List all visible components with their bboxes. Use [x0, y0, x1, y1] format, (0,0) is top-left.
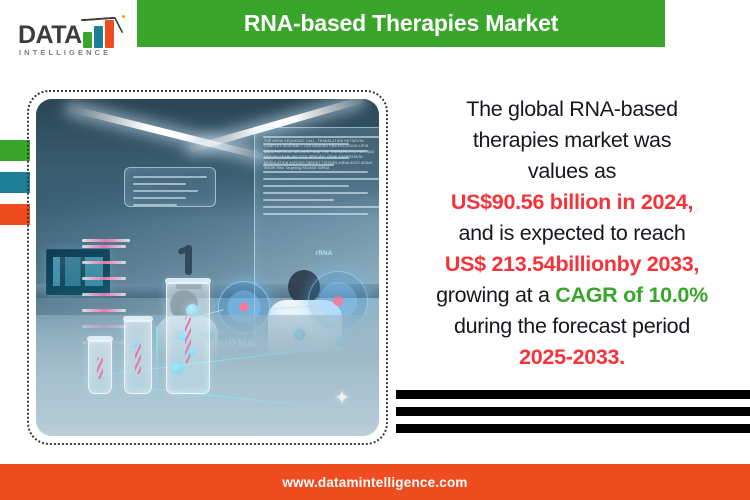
- stripe-1: [396, 390, 750, 399]
- stat-line-4: and is expected to reach: [458, 221, 685, 245]
- rna-strand: [185, 316, 191, 364]
- footer-website[interactable]: www.datamintelligence.com: [282, 475, 467, 490]
- holo-lines: [133, 176, 207, 211]
- lab-illustration: THE mRNA SEQUENCE CALL, TRANSLATION INIT…: [36, 99, 379, 436]
- decorative-stripes: [396, 390, 750, 441]
- header-banner: RNA-based Therapies Market: [137, 0, 665, 47]
- logo-subtitle: INTELLIGENCE: [19, 48, 111, 57]
- label-rrna: rRNA: [316, 251, 332, 257]
- stat-forecast-period: 2025-2033.: [519, 345, 625, 369]
- brand-logo: DATA INTELLIGENCE: [18, 12, 122, 62]
- stripe-2: [396, 407, 750, 416]
- accent-swatch-teal: [0, 172, 30, 193]
- image-frame: THE mRNA SEQUENCE CALL, TRANSLATION INIT…: [27, 90, 388, 445]
- stat-line-1: The global RNA-based: [466, 97, 678, 121]
- dna-rail: [82, 239, 130, 242]
- holo-panel-small-1: [124, 167, 216, 207]
- stat-line-3: values as: [528, 159, 616, 183]
- market-statistic-text: The global RNA-based therapies market wa…: [404, 94, 740, 373]
- logo-growth-arrow-icon: [80, 17, 123, 35]
- bubble: [172, 363, 183, 374]
- accent-swatch-orange: [0, 204, 30, 225]
- accent-swatch-green: [0, 140, 30, 161]
- logo-wordmark: DATA: [18, 22, 82, 48]
- stat-line-5: growing at a: [436, 283, 555, 307]
- stat-value-2033: US$ 213.54billionby 2033,: [445, 252, 699, 276]
- rna-strand: [97, 357, 103, 380]
- vial-large: [166, 282, 210, 394]
- logo-lockup: DATA: [18, 18, 123, 48]
- sparkle-icon: ✦: [333, 390, 351, 408]
- logo-accent-dot: [122, 15, 125, 18]
- page-title: RNA-based Therapies Market: [244, 10, 558, 37]
- bubble: [132, 343, 137, 348]
- stat-cagr: CAGR of 10.0%: [555, 283, 708, 307]
- vial-small: [88, 340, 112, 394]
- holo-readout-text: THE mRNA SEQUENCE CALL, TRANSLATION INIT…: [264, 139, 379, 171]
- stat-line-6: during the forecast period: [454, 314, 690, 338]
- accent-swatch-group: [0, 140, 30, 236]
- stripe-3: [396, 424, 750, 433]
- bubble: [188, 349, 195, 356]
- bubble: [180, 334, 186, 340]
- stat-line-2: therapies market was: [473, 128, 671, 152]
- footer-bar: www.datamintelligence.com: [0, 464, 750, 500]
- logo-bar-chart-icon: [83, 18, 123, 48]
- floor-light-beam: [156, 326, 158, 406]
- vial-medium: [124, 320, 152, 394]
- infographic-canvas: DATA INTELLIGENCE RNA-based Therapies Ma…: [0, 0, 750, 500]
- stat-value-2024: US$90.56 billion in 2024,: [451, 190, 693, 214]
